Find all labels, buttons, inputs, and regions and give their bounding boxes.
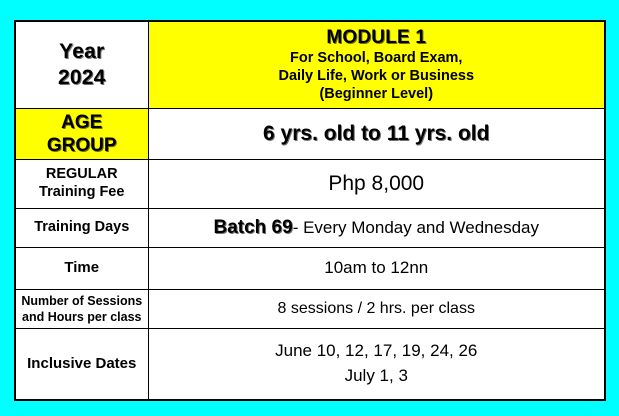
module-description-line1: For School, Board Exam, <box>153 50 601 68</box>
training-fee-label-line2: Training Fee <box>20 184 144 202</box>
training-schedule-table: Year 2024 MODULE 1 For School, Board Exa… <box>14 20 606 401</box>
module-cell: MODULE 1 For School, Board Exam, Daily L… <box>148 21 605 108</box>
table-row-age-group: AGE GROUP 6 yrs. old to 11 yrs. old <box>15 108 605 159</box>
sessions-value: 8 sessions / 2 hrs. per class <box>278 300 475 317</box>
inclusive-dates-line2: July 1, 3 <box>153 364 601 389</box>
sessions-value-cell: 8 sessions / 2 hrs. per class <box>148 289 605 328</box>
table-row-year-module: Year 2024 MODULE 1 For School, Board Exa… <box>15 21 605 108</box>
age-group-value: 6 yrs. old to 11 yrs. old <box>263 122 489 145</box>
inclusive-dates-label: Inclusive Dates <box>27 355 136 372</box>
module-description-line2: Daily Life, Work or Business <box>153 68 601 86</box>
training-fee-value: Php 8,000 <box>328 172 424 195</box>
age-group-label-cell: AGE GROUP <box>15 108 148 159</box>
table-row-training-fee: REGULAR Training Fee Php 8,000 <box>15 159 605 208</box>
module-level-line3: (Beginner Level) <box>153 86 601 104</box>
sessions-label-line2: and Hours per class <box>20 309 144 325</box>
inclusive-dates-label-cell: Inclusive Dates <box>15 328 148 400</box>
training-fee-label-cell: REGULAR Training Fee <box>15 159 148 208</box>
sessions-label-cell: Number of Sessions and Hours per class <box>15 289 148 328</box>
training-fee-label-line1: REGULAR <box>20 166 144 184</box>
training-days-value-cell: Batch 69- Every Monday and Wednesday <box>148 208 605 247</box>
training-fee-value-cell: Php 8,000 <box>148 159 605 208</box>
sessions-label-line1: Number of Sessions <box>20 293 144 309</box>
time-value: 10am to 12nn <box>324 258 428 277</box>
module-title: MODULE 1 <box>153 26 601 49</box>
table-row-sessions: Number of Sessions and Hours per class 8… <box>15 289 605 328</box>
table-row-time: Time 10am to 12nn <box>15 247 605 289</box>
table-row-training-days: Training Days Batch 69- Every Monday and… <box>15 208 605 247</box>
batch-number: Batch 69 <box>213 217 292 238</box>
year-cell: Year 2024 <box>15 21 148 108</box>
training-days-label-cell: Training Days <box>15 208 148 247</box>
age-group-label-line1: AGE <box>20 111 144 134</box>
time-label-cell: Time <box>15 247 148 289</box>
year-value-line2: 2024 <box>20 65 144 91</box>
age-group-label-line2: GROUP <box>20 134 144 157</box>
table-row-inclusive-dates: Inclusive Dates June 10, 12, 17, 19, 24,… <box>15 328 605 400</box>
inclusive-dates-line1: June 10, 12, 17, 19, 24, 26 <box>153 339 601 364</box>
year-label-line1: Year <box>20 39 144 65</box>
time-label: Time <box>64 259 99 276</box>
training-days-label: Training Days <box>34 219 129 235</box>
training-days-detail: - Every Monday and Wednesday <box>293 218 539 237</box>
time-value-cell: 10am to 12nn <box>148 247 605 289</box>
age-group-value-cell: 6 yrs. old to 11 yrs. old <box>148 108 605 159</box>
inclusive-dates-value-cell: June 10, 12, 17, 19, 24, 26 July 1, 3 <box>148 328 605 400</box>
